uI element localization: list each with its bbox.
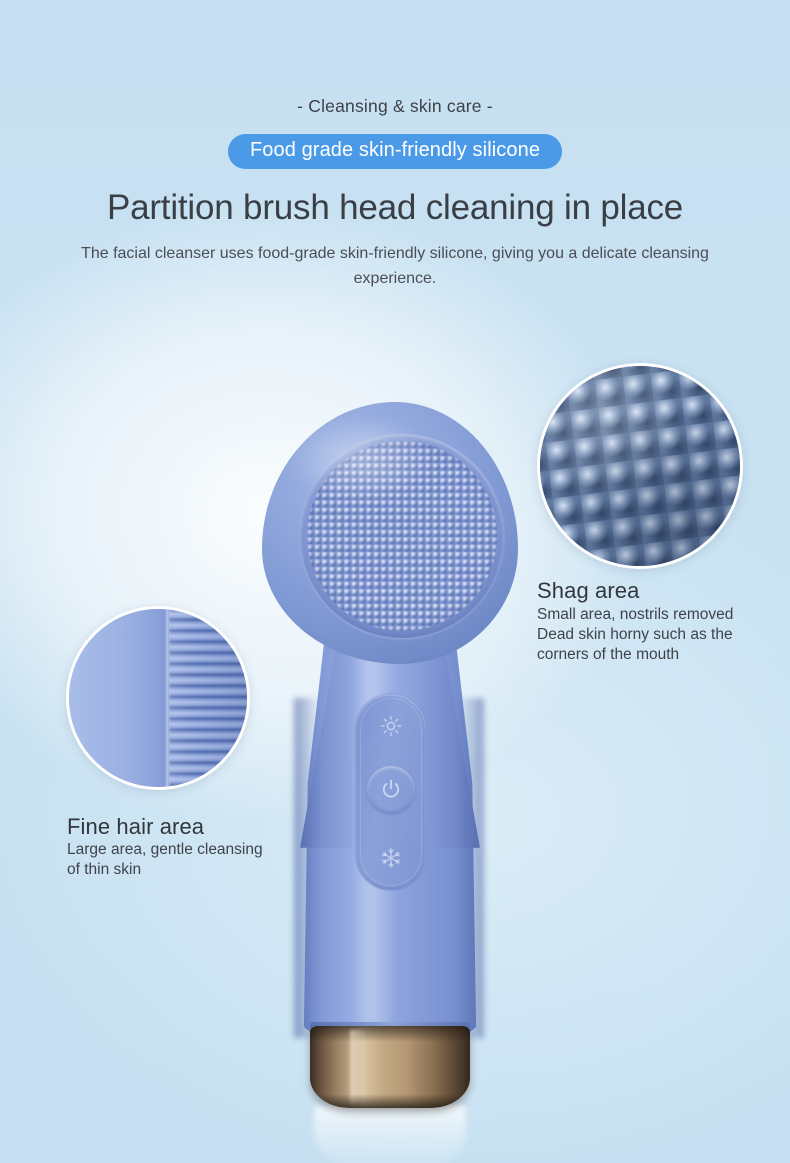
brush-head-highlight [286, 414, 436, 504]
header-block: - Cleansing & skin care - Food grade ski… [0, 0, 790, 292]
status-badge: Food grade skin-friendly silicone [228, 134, 562, 169]
snowflake-icon[interactable] [356, 846, 426, 874]
control-panel [356, 694, 426, 890]
base-top-shade [310, 1026, 470, 1042]
fine-ridge-texture [169, 609, 247, 787]
fine-edge-highlight [166, 609, 171, 787]
shag-shading-overlay [540, 366, 740, 566]
callout-title-shag: Shag area [537, 578, 639, 604]
base-bottom-shade [310, 1094, 470, 1108]
badge-wrapper: Food grade skin-friendly silicone [0, 134, 790, 169]
magnifier-inset-shag-area [537, 363, 743, 569]
sun-icon[interactable] [356, 714, 426, 742]
eyebrow-text: - Cleansing & skin care - [0, 96, 790, 117]
product-reflection [314, 1104, 466, 1163]
page-title: Partition brush head cleaning in place [0, 188, 790, 228]
fine-smooth-surface [69, 609, 169, 787]
callout-body-shag: Small area, nostrils removed Dead skin h… [537, 605, 733, 665]
callout-title-fine-hair: Fine hair area [67, 814, 204, 840]
product-metal-base [310, 1026, 470, 1108]
magnifier-inset-fine-hair-area [66, 606, 250, 790]
subtitle-text: The facial cleanser uses food-grade skin… [75, 242, 715, 292]
handle-shadow-left [294, 698, 320, 1038]
power-button[interactable] [367, 766, 415, 814]
brush-head [262, 402, 518, 664]
callout-body-fine-hair: Large area, gentle cleansing of thin ski… [67, 840, 263, 880]
handle-shadow-right [456, 698, 484, 1038]
base-gloss-highlight [350, 1030, 366, 1104]
product-marketing-poster: - Cleansing & skin care - Food grade ski… [0, 0, 790, 1163]
product-image [248, 398, 548, 1138]
